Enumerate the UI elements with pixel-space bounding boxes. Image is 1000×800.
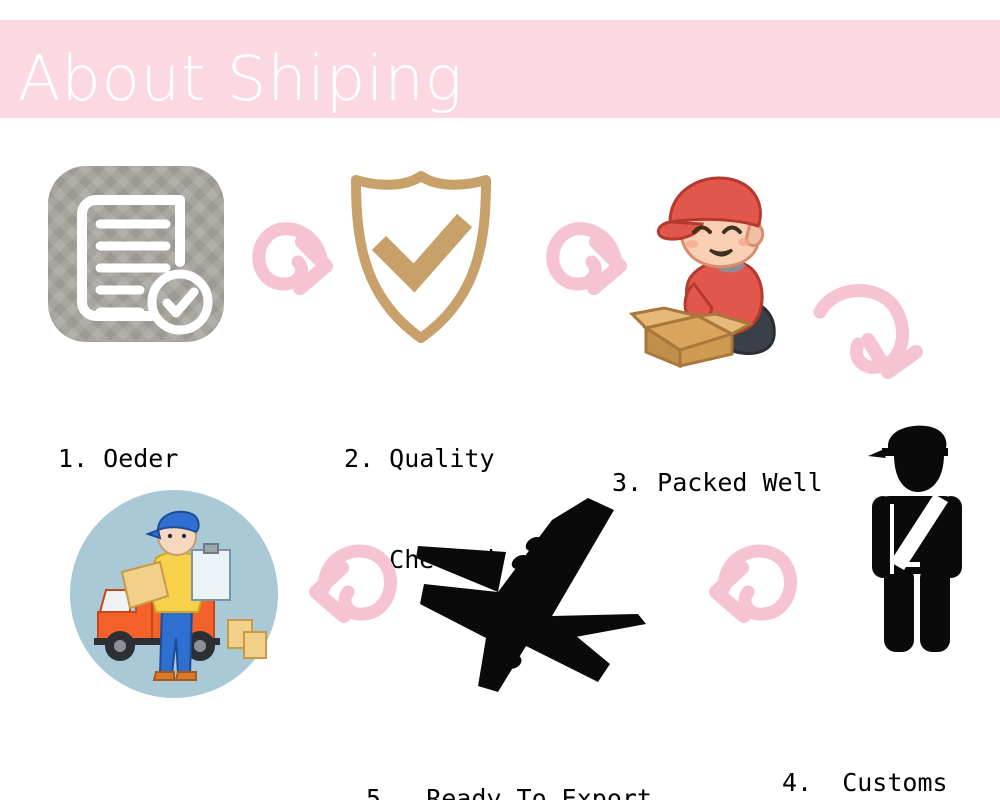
step-label-5-line1: 5. Ready To Export	[366, 782, 652, 800]
delivery-truck-icon	[68, 488, 280, 700]
worker-packing-box-icon	[624, 168, 800, 368]
airplane-icon	[402, 496, 678, 696]
step-label-4: 4. Customs Safe Check	[782, 698, 963, 800]
shipping-process-infographic: About Shiping	[0, 0, 1000, 800]
arrow-step5-to-step6	[302, 538, 410, 642]
step-label-3-line1: 3. Packed Well	[612, 466, 823, 500]
step-label-2-line1: 2. Quality	[344, 442, 495, 476]
shield-check-icon	[338, 166, 504, 346]
customs-officer-icon	[860, 424, 990, 656]
arrow-step2-to-step3	[530, 212, 634, 316]
header-banner: About Shiping	[0, 20, 1000, 118]
arrow-step3-to-step4	[812, 282, 928, 388]
step-label-5: 5. Ready To Export	[366, 714, 652, 800]
arrow-step1-to-step2	[236, 212, 340, 316]
arrow-step4-to-step5	[702, 538, 810, 642]
step-label-6: 6. Parcel Delivery	[24, 734, 310, 800]
step-label-1-line1: 1. Oeder	[58, 442, 239, 476]
document-check-glyph	[48, 166, 224, 342]
step-label-4-line1: 4. Customs	[782, 766, 963, 800]
document-check-icon	[48, 166, 224, 342]
page-title: About Shiping	[18, 48, 463, 110]
